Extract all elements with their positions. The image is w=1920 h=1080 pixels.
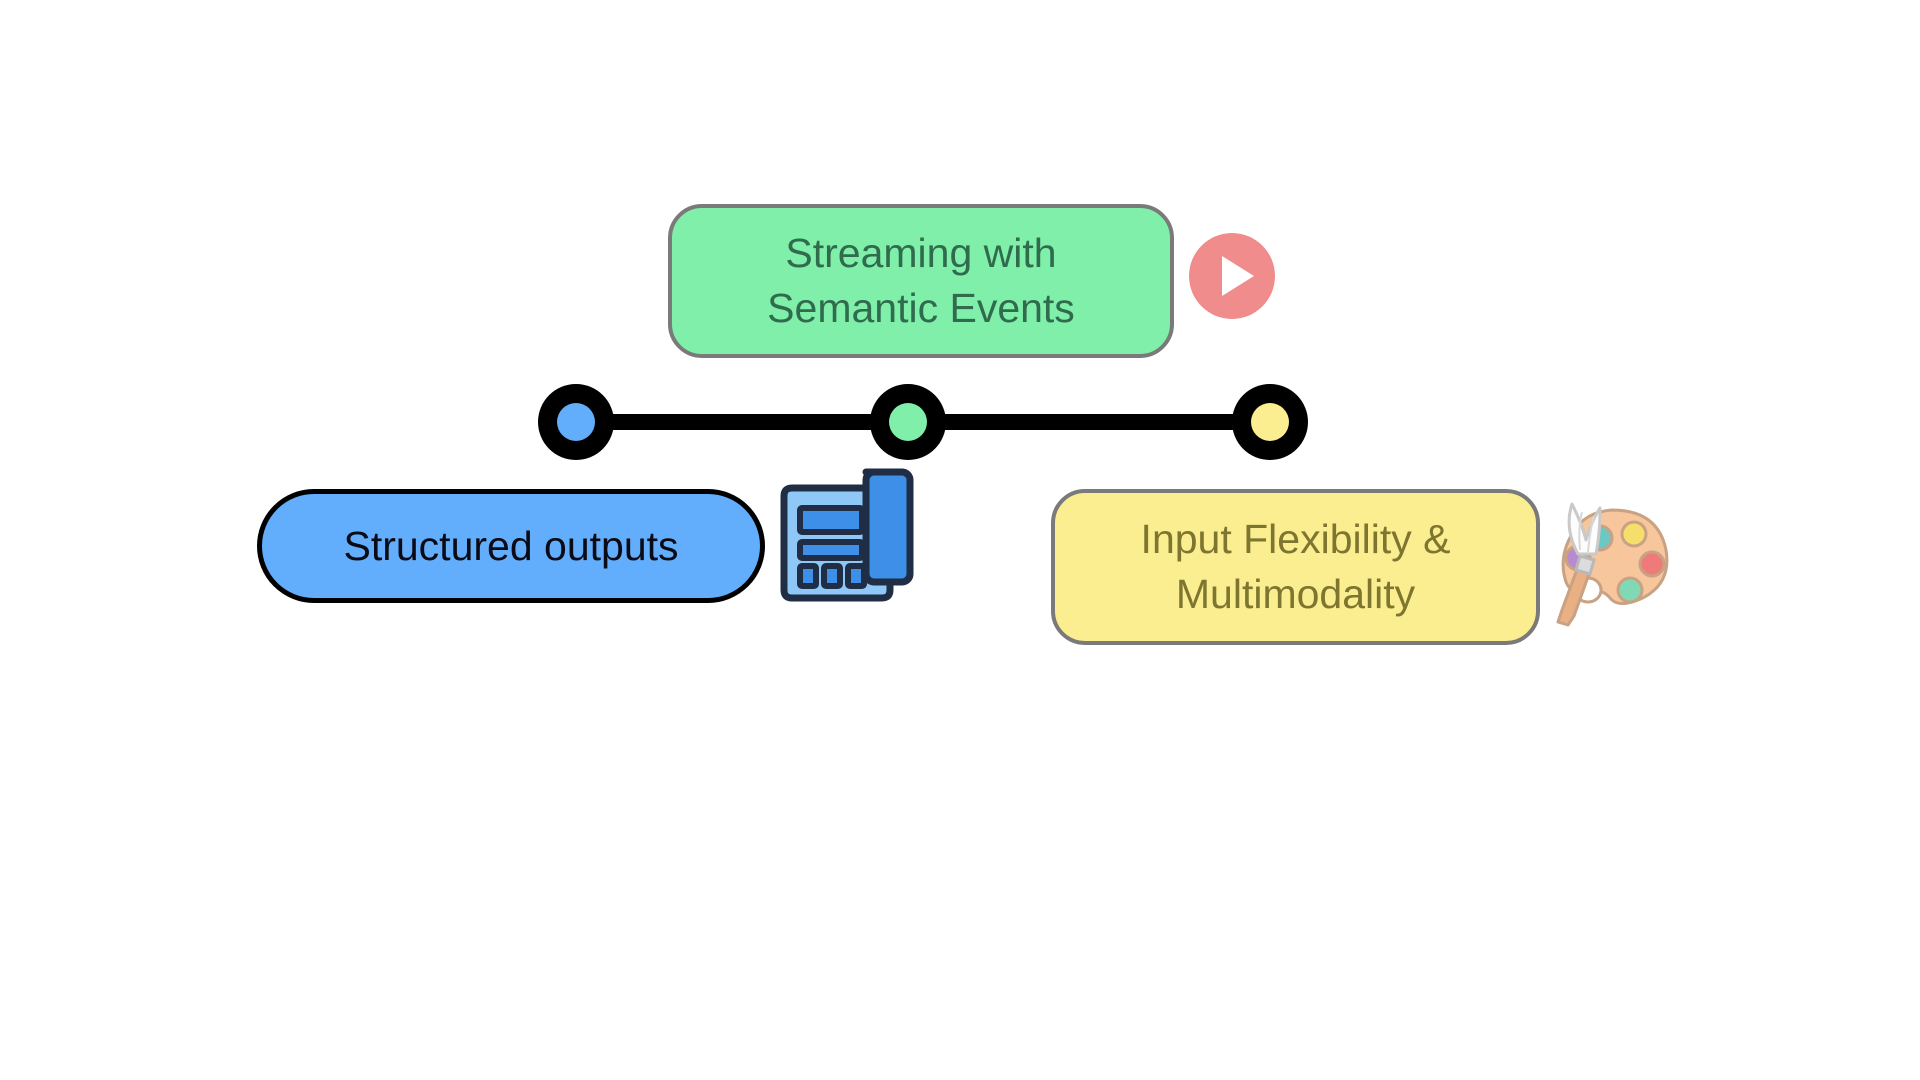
label-line-2: Semantic Events: [767, 285, 1075, 331]
timeline-node-core-blue: [557, 403, 595, 441]
timeline-node-input-flexibility[interactable]: [1232, 384, 1308, 460]
label-box-input-flexibility-multimodality[interactable]: Input Flexibility & Multimodality: [1051, 489, 1540, 645]
label-line-1: Streaming with: [785, 230, 1056, 276]
diagram-canvas: Streaming with Semantic Events Structure…: [0, 0, 1920, 1080]
timeline-node-core-yellow: [1251, 403, 1289, 441]
label-box-streaming-text: Streaming with Semantic Events: [767, 226, 1075, 335]
play-button-icon[interactable]: [1188, 232, 1276, 320]
timeline-node-core-green: [889, 403, 927, 441]
label-box-input-flex-text: Input Flexibility & Multimodality: [1141, 512, 1451, 621]
label-box-structured-text: Structured outputs: [343, 519, 678, 574]
label-box-streaming-semantic-events[interactable]: Streaming with Semantic Events: [668, 204, 1174, 358]
label-line-2: Multimodality: [1176, 571, 1415, 617]
timeline-node-streaming-semantic-events[interactable]: [870, 384, 946, 460]
artist-palette-icon: [1552, 494, 1676, 626]
blueprint-document-icon: [778, 462, 924, 604]
label-line-1: Input Flexibility &: [1141, 516, 1451, 562]
timeline-node-structured-outputs[interactable]: [538, 384, 614, 460]
label-box-structured-outputs[interactable]: Structured outputs: [257, 489, 765, 603]
